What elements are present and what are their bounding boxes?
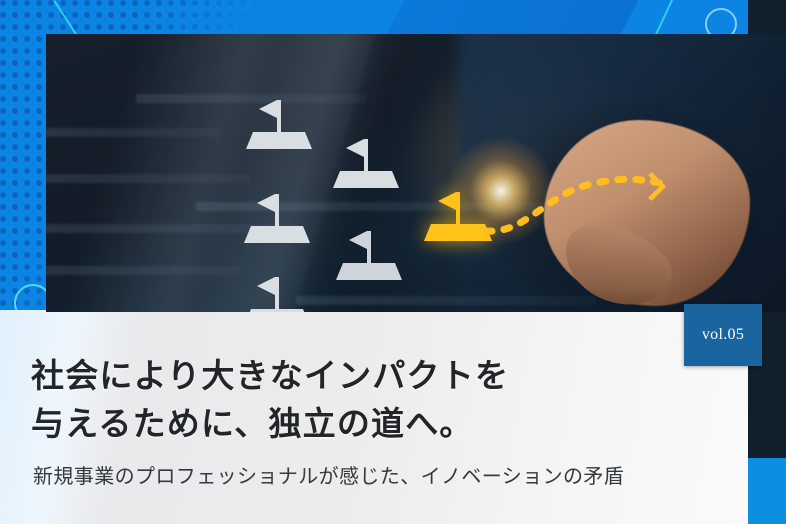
page-subtitle: 新規事業のプロフェッショナルが感じた、イノベーションの矛盾	[33, 462, 763, 492]
dotted-arrow-trail	[46, 34, 786, 312]
page-title-line-2: 与えるために、独立の道へ。	[31, 400, 731, 448]
page-title-line-1: 社会により大きなインパクトを	[31, 357, 509, 394]
article-hero-banner: vol.05 社会により大きなインパクトを 与えるために、独立の道へ。 新規事業…	[0, 0, 786, 524]
volume-badge-label: vol.05	[702, 326, 744, 344]
hero-photo	[46, 34, 786, 312]
page-title: 社会により大きなインパクトを 与えるために、独立の道へ。	[31, 352, 731, 448]
